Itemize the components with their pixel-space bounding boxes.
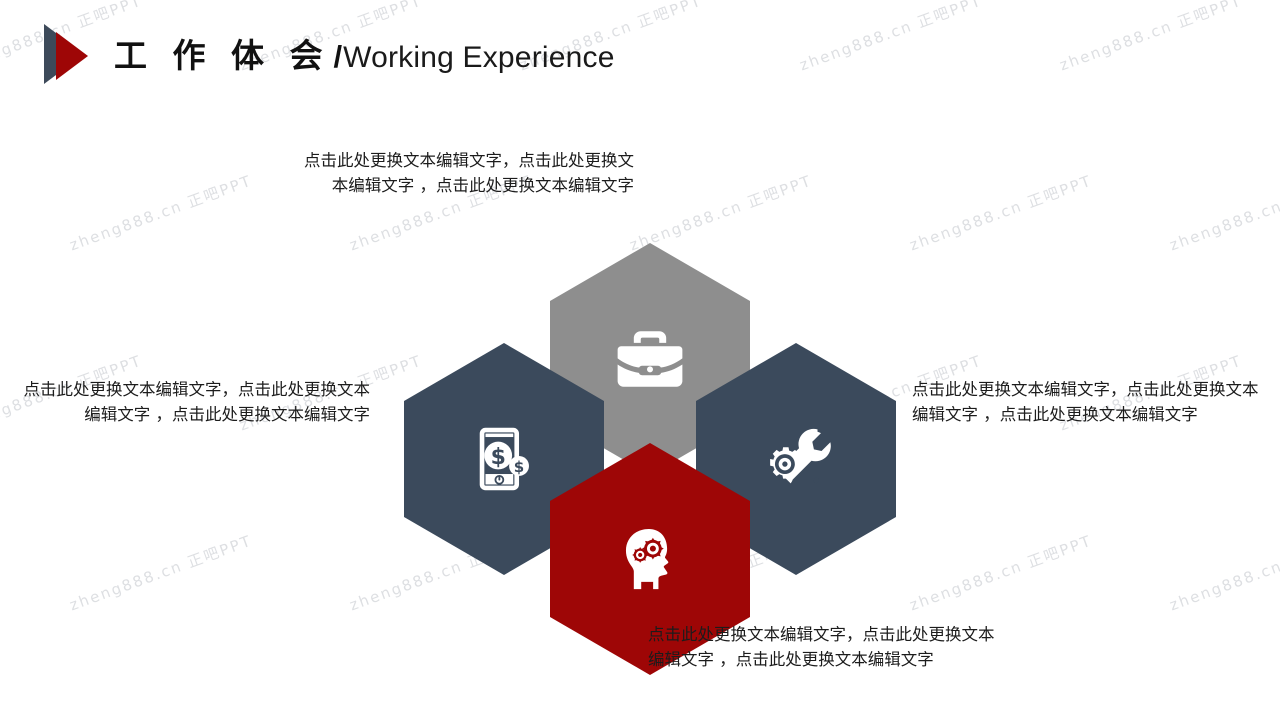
description-left: 点击此处更换文本编辑文字，点击此处更换文本编辑文字 ，点击此处更换文本编辑文字 (16, 377, 370, 427)
svg-text:$: $ (514, 458, 524, 476)
slide-header: 工 作 体 会 / Working Experience (40, 18, 615, 88)
slide-canvas: 工 作 体 会 / Working Experience 点击此处更换文本编辑文… (0, 0, 1280, 720)
wrench-gear-icon (759, 422, 833, 496)
watermark-text: zheng888.cn 正吧PPT (906, 530, 1094, 616)
watermark-text: zheng888.cn 正吧PPT (1056, 0, 1244, 75)
page-title-separator: / (333, 39, 342, 75)
page-title: 工 作 体 会 / Working Experience (114, 29, 615, 77)
description-right: 点击此处更换文本编辑文字，点击此处更换文本编辑文字 ，点击此处更换文本编辑文字 (912, 377, 1272, 427)
watermark-text: zheng888.cn 正吧PPT (906, 170, 1094, 256)
double-triangle-play-logo-icon (40, 22, 98, 84)
logo-triangle-front (56, 32, 88, 80)
head-with-gears-icon (613, 522, 687, 596)
page-title-chinese: 工 作 体 会 (114, 29, 329, 77)
svg-text:$: $ (491, 445, 506, 470)
watermark-text: zheng888.cn 正吧PPT (66, 170, 254, 256)
briefcase-icon (613, 322, 687, 396)
watermark-text: zheng888.cn 正吧PPT (1166, 530, 1280, 616)
watermark-text: zheng888.cn 正吧PPT (66, 530, 254, 616)
watermark-text: zheng888.cn 正吧PPT (796, 0, 984, 75)
page-title-english: Working Experience (343, 41, 615, 75)
description-bottom: 点击此处更换文本编辑文字，点击此处更换文本编辑文字 ，点击此处更换文本编辑文字 (648, 622, 1000, 672)
mobile-payment-dollar-icon: $ $ (467, 422, 541, 496)
description-top: 点击此处更换文本编辑文字，点击此处更换文本编辑文字 ，点击此处更换文本编辑文字 (300, 148, 634, 198)
watermark-text: zheng888.cn 正吧PPT (1166, 170, 1280, 256)
hexagon-cluster: $ $ (404, 243, 896, 599)
